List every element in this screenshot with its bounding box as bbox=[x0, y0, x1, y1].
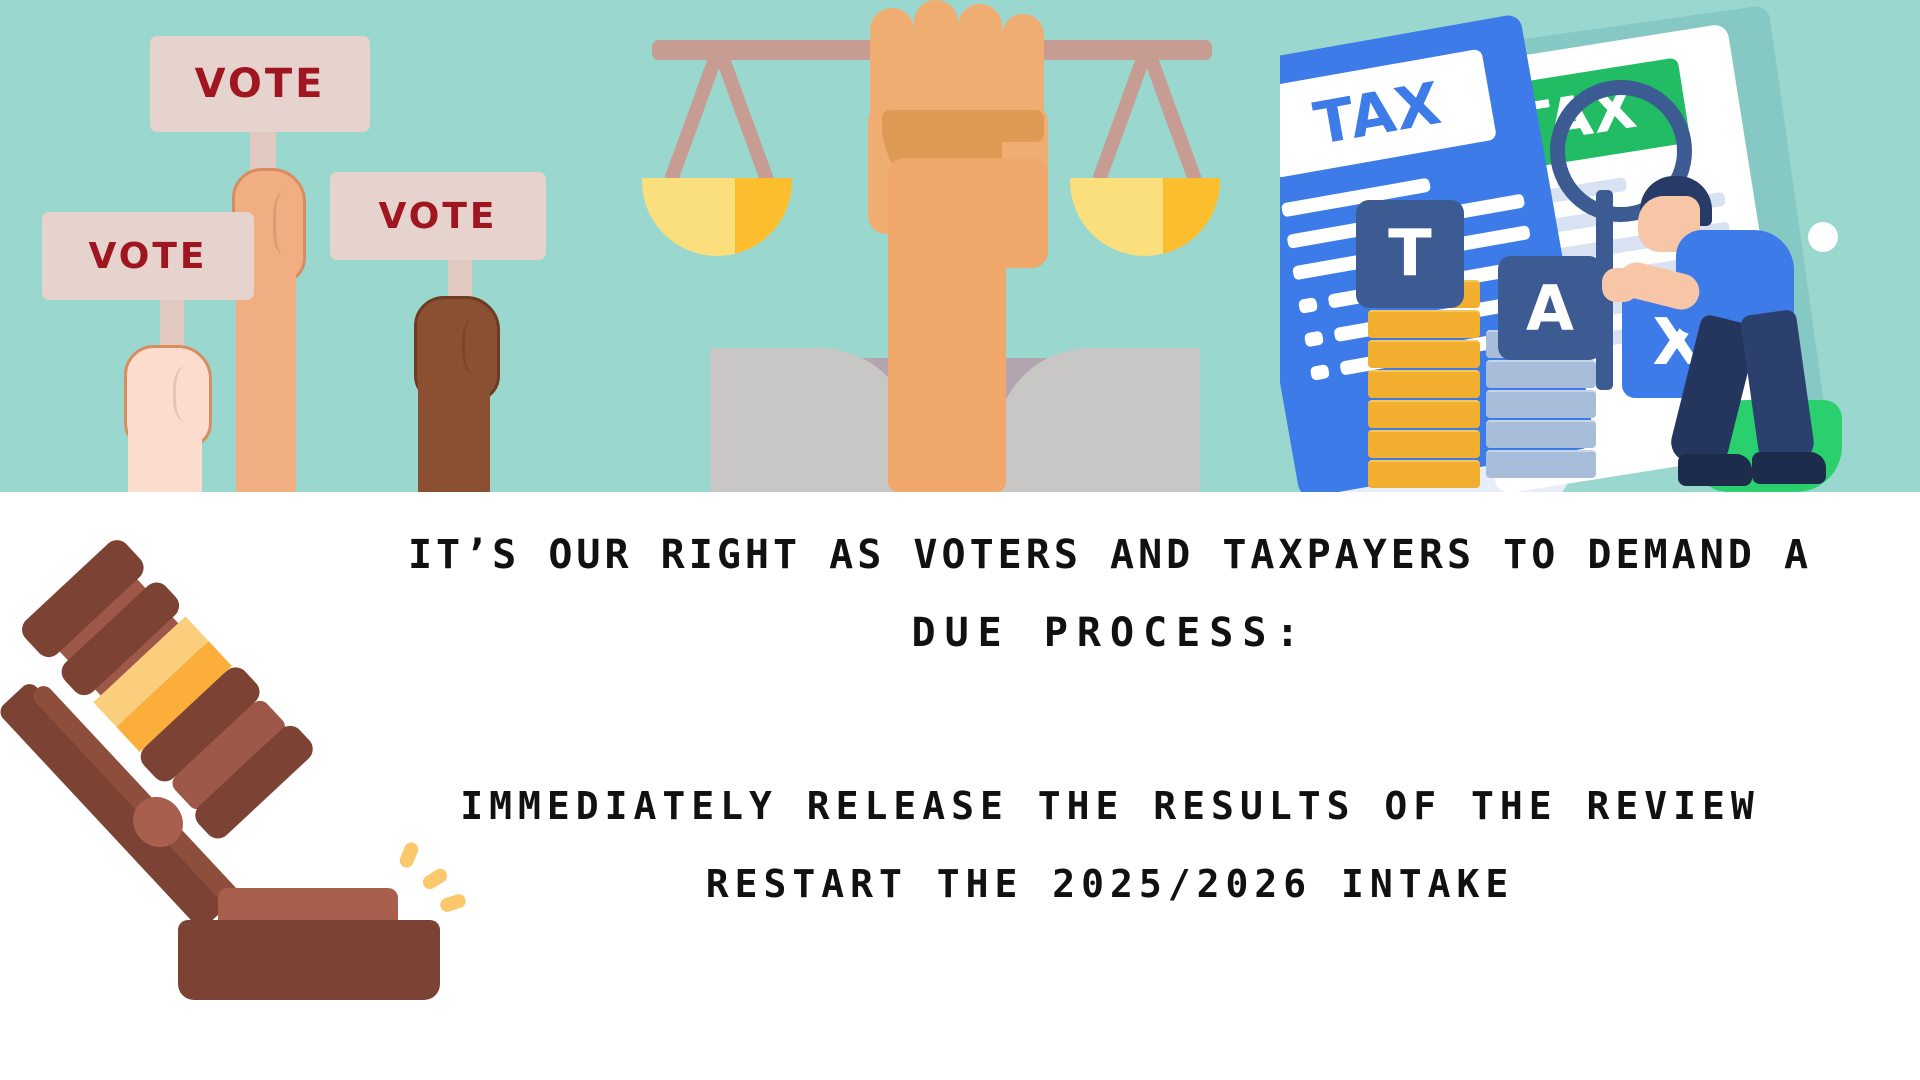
silver-coin bbox=[1486, 450, 1596, 478]
headline-line-2: DUE PROCESS: bbox=[330, 610, 1890, 656]
gold-coin-stack bbox=[1368, 280, 1480, 492]
gold-coin bbox=[1368, 400, 1480, 428]
decorative-dot-white bbox=[1808, 222, 1838, 252]
person-shoe-front bbox=[1678, 454, 1752, 486]
gold-coin bbox=[1368, 460, 1480, 488]
scale-cord-right-a bbox=[1093, 46, 1154, 182]
letter-tile-t: T bbox=[1356, 200, 1464, 308]
poster-root: VOTE VOTE VOTE bbox=[0, 0, 1920, 1080]
scale-pan-left bbox=[642, 178, 792, 256]
protest-sign-label-3: VOTE bbox=[379, 196, 498, 237]
protest-sign-label-1: VOTE bbox=[195, 61, 326, 107]
tax-blue-label: TAX bbox=[1309, 69, 1447, 158]
gold-coin bbox=[1368, 310, 1480, 338]
scale-pan-right bbox=[1070, 178, 1220, 256]
demand-item-2: RESTART THE 2025/2026 INTAKE bbox=[330, 862, 1890, 906]
gold-coin bbox=[1368, 430, 1480, 458]
letter-tile-a-label: A bbox=[1526, 272, 1574, 345]
fist-palm-front bbox=[888, 158, 1048, 268]
person-shoe-back bbox=[1752, 452, 1826, 484]
protest-sign-3: VOTE bbox=[330, 172, 546, 260]
scale-cord-right-b bbox=[1140, 46, 1201, 182]
tax-document-blue-title: TAX bbox=[1280, 49, 1497, 179]
demand-item-1: IMMEDIATELY RELEASE THE RESULTS OF THE R… bbox=[330, 784, 1890, 828]
protest-sign-1: VOTE bbox=[150, 36, 370, 132]
scale-cord-left-a bbox=[665, 46, 726, 182]
gold-coin bbox=[1368, 370, 1480, 398]
blue-doc-bullet-3 bbox=[1310, 364, 1330, 381]
silver-coin bbox=[1486, 420, 1596, 448]
panel-scales-of-justice bbox=[600, 0, 1280, 492]
forearm-2 bbox=[128, 425, 202, 492]
scale-cord-left-b bbox=[712, 46, 773, 182]
silver-coin bbox=[1486, 360, 1596, 388]
banner-illustration-strip: VOTE VOTE VOTE bbox=[0, 0, 1920, 492]
gold-coin bbox=[1368, 340, 1480, 368]
silver-coin bbox=[1486, 390, 1596, 418]
person-hand bbox=[1602, 268, 1638, 302]
panel-tax-documents: TAX TAX bbox=[1280, 0, 1920, 492]
protest-sign-label-2: VOTE bbox=[89, 236, 208, 277]
panel-vote-protest: VOTE VOTE VOTE bbox=[0, 0, 600, 492]
message-block: IT’S OUR RIGHT AS VOTERS AND TAXPAYERS T… bbox=[0, 492, 1920, 1080]
blue-doc-bullet-1 bbox=[1298, 297, 1318, 314]
headline-line-1: IT’S OUR RIGHT AS VOTERS AND TAXPAYERS T… bbox=[330, 532, 1890, 578]
protest-sign-2: VOTE bbox=[42, 212, 254, 300]
letter-tile-t-label: T bbox=[1388, 217, 1432, 291]
letter-tile-a: A bbox=[1498, 256, 1602, 360]
forearm-3 bbox=[418, 380, 490, 492]
blue-doc-bullet-2 bbox=[1304, 330, 1324, 347]
